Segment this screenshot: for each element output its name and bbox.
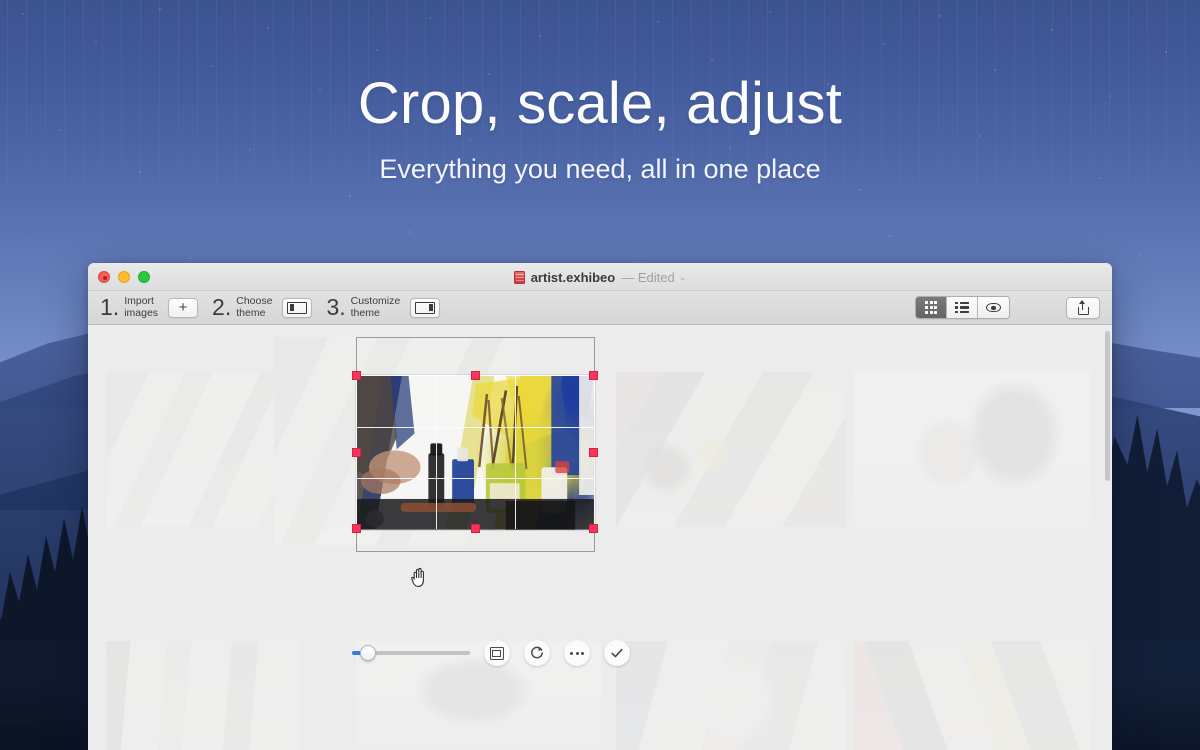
share-button[interactable]: [1066, 297, 1100, 319]
rotate-button[interactable]: [524, 640, 550, 666]
step-2-line2: theme: [236, 307, 265, 319]
open-hand-cursor: [410, 567, 428, 587]
crop-handle-bottom-left[interactable]: [352, 524, 361, 533]
step-1-line2: images: [124, 307, 158, 319]
window-title-group: artist.exhibeo — Edited ⌄: [88, 263, 1112, 291]
list-view-button[interactable]: [947, 297, 978, 318]
more-options-button[interactable]: [564, 640, 590, 666]
crop-handle-bottom-center[interactable]: [471, 524, 480, 533]
preview-button[interactable]: [978, 297, 1009, 318]
layout-left-icon: [287, 302, 307, 314]
crop-handle-bottom-right[interactable]: [589, 524, 598, 533]
thumbnail-8[interactable]: [854, 641, 1090, 750]
choose-theme-button[interactable]: [282, 298, 312, 318]
zoom-slider[interactable]: [352, 643, 470, 663]
minimize-button-icon[interactable]: [118, 271, 130, 283]
customize-theme-button[interactable]: [410, 298, 440, 318]
crop-preview-detail: [357, 376, 594, 530]
document-name: artist.exhibeo: [531, 270, 616, 285]
thumbnail-5[interactable]: [106, 641, 300, 750]
add-images-button[interactable]: +: [168, 298, 198, 318]
grid-view-icon: [925, 301, 937, 313]
thumbnail-7[interactable]: [616, 641, 846, 750]
crop-gridline-horizontal-1: [357, 427, 594, 428]
edited-label: Edited: [638, 270, 675, 285]
gallery-canvas: [88, 325, 1112, 750]
thumbnail-7-dim-overlay: [616, 641, 846, 750]
step-1-label: Import images: [124, 296, 158, 319]
view-mode-segmented-control: [915, 296, 1010, 319]
thumbnail-5-dim-overlay: [106, 641, 300, 750]
document-edit-state: — Edited: [621, 270, 675, 285]
step-2-line1: Choose: [236, 295, 272, 307]
thumbnail-1[interactable]: [106, 372, 300, 527]
crop-gridline-vertical-2: [515, 376, 516, 529]
step-import-images: 1. Import images: [100, 296, 158, 319]
hero-section: Crop, scale, adjust Everything you need,…: [0, 0, 1200, 185]
canvas-scrollbar[interactable]: [1105, 331, 1110, 481]
done-button[interactable]: [604, 640, 630, 666]
document-icon: [514, 271, 525, 284]
screenshot-stage: Crop, scale, adjust Everything you need,…: [0, 0, 1200, 750]
plus-icon: +: [179, 300, 188, 315]
crop-gridline-vertical-1: [436, 376, 437, 529]
more-options-icon: [570, 652, 584, 655]
crop-handle-top-right[interactable]: [589, 371, 598, 380]
title-separator: —: [621, 270, 634, 285]
step-3-line2: theme: [351, 307, 380, 319]
step-3-label: Customize theme: [351, 296, 401, 319]
step-2-label: Choose theme: [236, 296, 272, 319]
step-1-line1: Import: [124, 295, 154, 307]
step-1-number: 1.: [100, 296, 119, 319]
step-choose-theme: 2. Choose theme: [212, 296, 272, 319]
thumbnail-3[interactable]: [616, 372, 846, 527]
crop-selection-rectangle[interactable]: [356, 375, 595, 530]
app-toolbar: 1. Import images + 2. Choose theme: [88, 291, 1112, 325]
frame-layout-button[interactable]: [484, 640, 510, 666]
step-3-number: 3.: [326, 296, 345, 319]
grid-view-button[interactable]: [916, 297, 947, 318]
checkmark-icon: [609, 645, 625, 661]
zoom-slider-thumb[interactable]: [360, 645, 376, 661]
thumbnail-4-dim-overlay: [854, 372, 1090, 527]
thumbnail-8-dim-overlay: [854, 641, 1090, 750]
step-customize-theme: 3. Customize theme: [326, 296, 400, 319]
share-icon: [1078, 301, 1089, 315]
list-view-icon: [955, 302, 969, 314]
thumbnail-3-dim-overlay: [616, 372, 846, 527]
rotate-clockwise-icon: [529, 645, 545, 661]
image-edit-toolbar: [352, 640, 630, 666]
thumbnail-4[interactable]: [854, 372, 1090, 527]
thumbnail-1-dim-overlay: [106, 372, 300, 527]
close-button-icon[interactable]: [98, 271, 110, 283]
hero-title: Crop, scale, adjust: [0, 70, 1200, 137]
eye-preview-icon: [986, 303, 1001, 312]
crop-handle-top-center[interactable]: [471, 371, 480, 380]
window-titlebar: artist.exhibeo — Edited ⌄: [88, 263, 1112, 291]
layout-right-icon: [415, 302, 435, 314]
chevron-down-icon[interactable]: ⌄: [679, 272, 687, 283]
frame-layout-icon: [490, 647, 504, 660]
app-window: artist.exhibeo — Edited ⌄ 1. Import imag…: [88, 263, 1112, 750]
crop-handle-middle-right[interactable]: [589, 448, 598, 457]
step-3-line1: Customize: [351, 295, 401, 307]
step-2-number: 2.: [212, 296, 231, 319]
crop-gridline-horizontal-2: [357, 478, 594, 479]
crop-handle-middle-left[interactable]: [352, 448, 361, 457]
hero-subtitle: Everything you need, all in one place: [0, 154, 1200, 185]
traffic-lights: [98, 271, 150, 283]
maximize-button-icon[interactable]: [138, 271, 150, 283]
crop-handle-top-left[interactable]: [352, 371, 361, 380]
